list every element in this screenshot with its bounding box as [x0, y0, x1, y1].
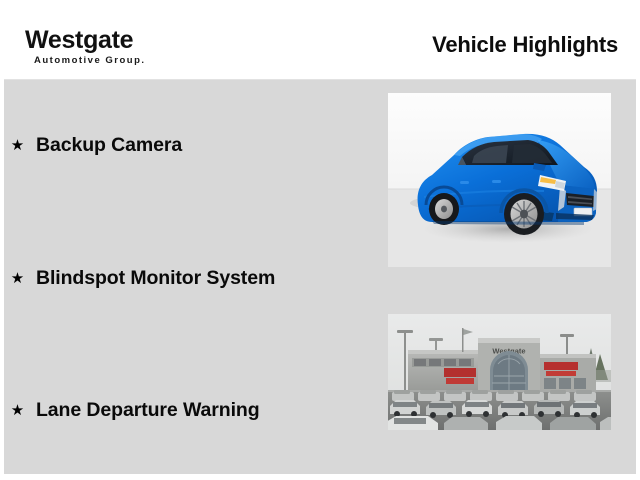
content-area: ★ Backup Camera ★ Blindspot Monitor Syst…: [4, 80, 636, 474]
list-item: ★ Blindspot Monitor System: [10, 269, 275, 289]
list-item: ★ Lane Departure Warning: [10, 401, 260, 421]
vehicle-photo-graphic: [388, 93, 611, 267]
dealership-photo: Westgate: [388, 314, 611, 430]
vehicle-photo: [388, 93, 611, 267]
star-icon: ★: [10, 138, 25, 153]
brand-logo[interactable]: Westgate Automotive Group.: [25, 28, 265, 66]
page-title: Vehicle Highlights: [432, 32, 618, 58]
brand-subtitle: Automotive Group.: [34, 56, 265, 66]
star-icon: ★: [10, 271, 25, 286]
highlight-label: Blindspot Monitor System: [36, 269, 275, 289]
highlight-label: Backup Camera: [36, 136, 182, 156]
brand-name: Westgate: [25, 28, 265, 53]
list-item: ★ Backup Camera: [10, 136, 182, 156]
page-header: Westgate Automotive Group. Vehicle Highl…: [4, 4, 636, 80]
highlights-list: ★ Backup Camera ★ Blindspot Monitor Syst…: [4, 80, 384, 474]
slide-container: Westgate Automotive Group. Vehicle Highl…: [0, 0, 640, 480]
dealership-photo-graphic: Westgate: [388, 314, 611, 430]
highlight-label: Lane Departure Warning: [36, 401, 260, 421]
star-icon: ★: [10, 403, 25, 418]
